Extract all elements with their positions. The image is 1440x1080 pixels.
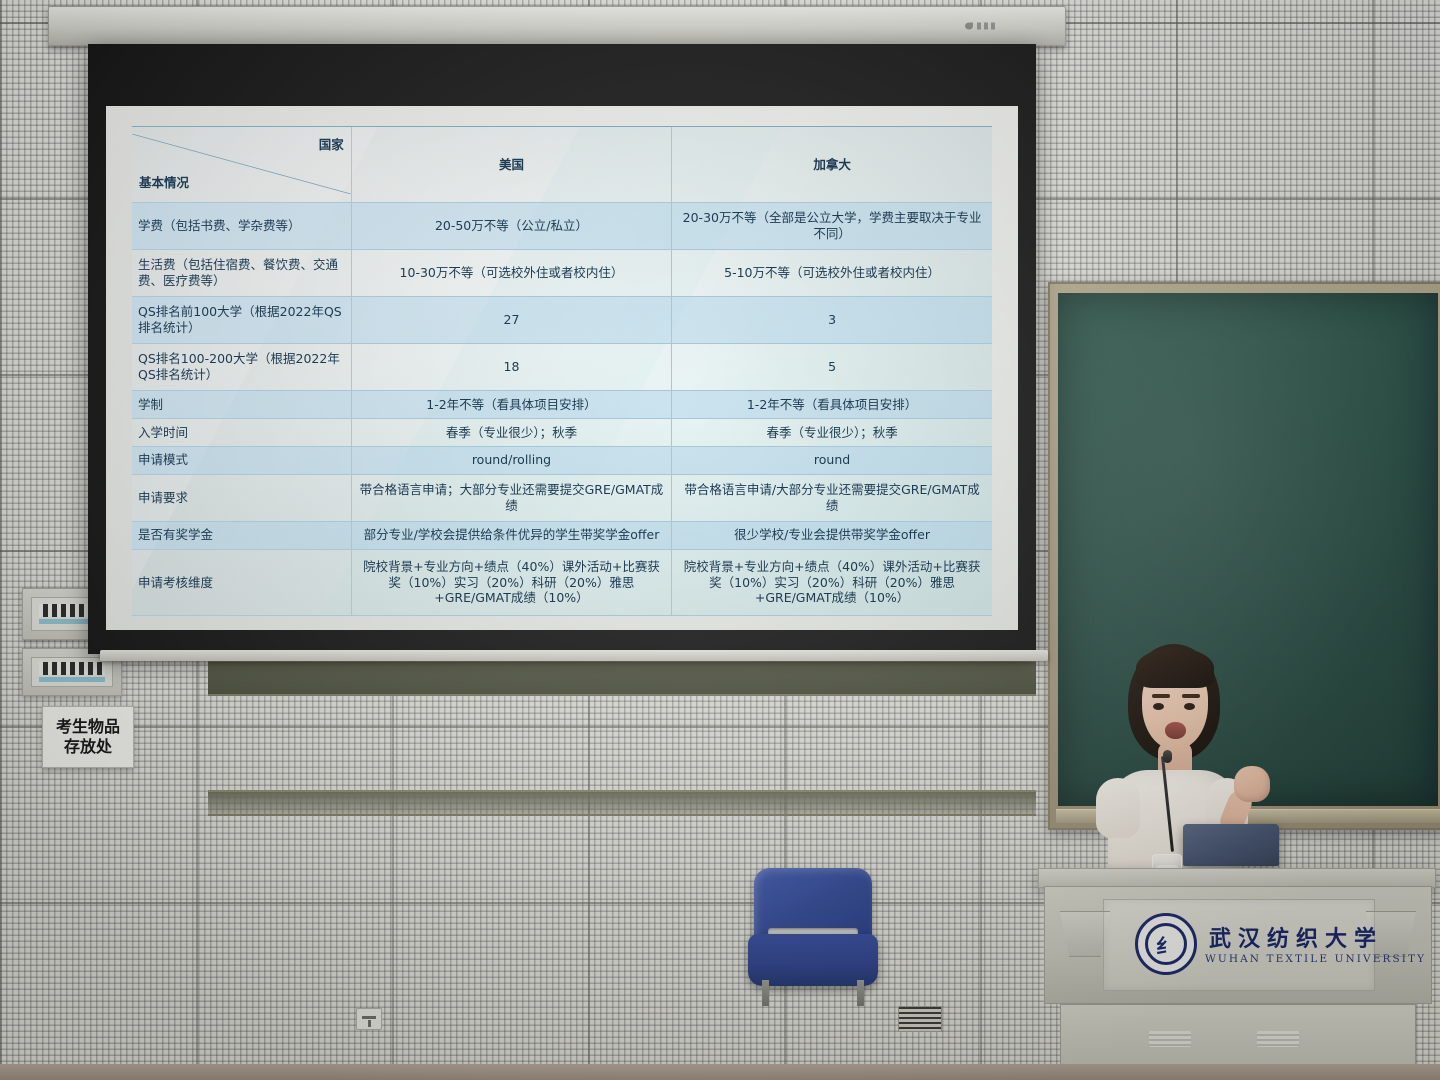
corner-header-cell: 国家 基本情况 <box>132 127 351 203</box>
blackboard <box>1048 282 1440 830</box>
speaker-mouth <box>1165 722 1186 739</box>
row-label: QS排名前100大学（根据2022年QS排名统计） <box>132 296 351 343</box>
table-row: 申请要求 带合格语言申请；大部分专业还需要提交GRE/GMAT成绩 带合格语言申… <box>132 474 992 521</box>
column-header-ca: 加拿大 <box>672 127 992 203</box>
table-row: 申请模式 round/rolling round <box>132 446 992 474</box>
row-value-us: 10-30万不等（可选校外住或者校内住） <box>351 249 671 296</box>
sign-line-1: 考生物品 <box>56 717 120 737</box>
row-value-ca: 带合格语言申请/大部分专业还需要提交GRE/GMAT成绩 <box>672 474 992 521</box>
table-row: 是否有奖学金 部分专业/学校会提供给条件优异的学生带奖学金offer 很少学校/… <box>132 521 992 549</box>
projection-screen-border: 国家 基本情况 美国 加拿大 学费（包括书费、学杂费等） 20-50万不等（公立… <box>88 44 1036 654</box>
emblem-inner-ring: 纟 <box>1145 923 1187 965</box>
row-label: 学制 <box>132 390 351 418</box>
lecture-hall-scene: 考生物品 存放处 <box>0 0 1440 1080</box>
speaker-brow-left <box>1152 694 1170 698</box>
table-row: 入学时间 春季（专业很少）；秋季 春季（专业很少）；秋季 <box>132 418 992 446</box>
row-label: 学费（包括书费、学杂费等） <box>132 202 351 249</box>
outlet-slot-v <box>368 1020 371 1027</box>
row-label: 生活费（包括住宿费、餐饮费、交通费、医疗费等） <box>132 249 351 296</box>
row-value-us: 院校背景+专业方向+绩点（40%）课外活动+比赛获奖（10%）实习（20%）科研… <box>351 549 671 615</box>
floor-baseboard <box>0 1064 1440 1080</box>
outlet-slot-h <box>362 1016 376 1019</box>
university-name-en: WUHAN TEXTILE UNIVERSITY <box>1205 953 1426 965</box>
blackboard-strip-upper <box>208 660 1036 696</box>
chair-leg-right <box>857 980 864 1006</box>
storage-area-sign: 考生物品 存放处 <box>42 706 134 768</box>
row-label: 申请要求 <box>132 474 351 521</box>
table-row: 学制 1-2年不等（看具体项目安排） 1-2年不等（看具体项目安排） <box>132 390 992 418</box>
row-label: QS排名100-200大学（根据2022年QS排名统计） <box>132 343 351 390</box>
projector-brand-logo-icon <box>965 23 995 30</box>
brand-dot-icon <box>965 23 973 30</box>
corner-label-country: 国家 <box>319 137 344 153</box>
row-label: 是否有奖学金 <box>132 521 351 549</box>
projection-screen-bottom-bar[interactable] <box>100 650 1048 661</box>
podium-desktop <box>1038 868 1436 888</box>
chair-leg-left <box>762 980 769 1006</box>
row-value-us: 20-50万不等（公立/私立） <box>351 202 671 249</box>
microphone-head-icon[interactable] <box>1163 750 1172 763</box>
university-name-cn: 武汉纺织大学 <box>1209 921 1383 953</box>
blackboard-surface <box>1058 293 1438 806</box>
row-value-ca: round <box>672 446 992 474</box>
row-value-us: 带合格语言申请；大部分专业还需要提交GRE/GMAT成绩 <box>351 474 671 521</box>
podium-front-face: 纟 武汉纺织大学 WUHAN TEXTILE UNIVERSITY <box>1044 886 1432 1004</box>
podium-vent-left-icon <box>1149 1031 1191 1047</box>
breaker-switch-row-bottom <box>39 662 105 675</box>
row-value-ca: 院校背景+专业方向+绩点（40%）课外活动+比赛获奖（10%）实习（20%）科研… <box>672 549 992 615</box>
breaker-label-strip-bottom <box>39 677 105 682</box>
row-label: 入学时间 <box>132 418 351 446</box>
row-value-ca: 20-30万不等（全部是公立大学，学费主要取决于专业不同） <box>672 202 992 249</box>
row-value-ca: 春季（专业很少）；秋季 <box>672 418 992 446</box>
wall-outlet-left[interactable] <box>356 1008 382 1030</box>
table-row: QS排名100-200大学（根据2022年QS排名统计） 18 5 <box>132 343 992 390</box>
projection-screen-surface: 国家 基本情况 美国 加拿大 学费（包括书费、学杂费等） 20-50万不等（公立… <box>106 106 1018 630</box>
sign-line-2: 存放处 <box>64 737 112 757</box>
row-value-ca: 5-10万不等（可选校外住或者校内住） <box>672 249 992 296</box>
table-header-row: 国家 基本情况 美国 加拿大 <box>132 127 992 203</box>
row-label: 申请模式 <box>132 446 351 474</box>
speaker-hand-gesture <box>1234 766 1270 802</box>
row-value-ca: 1-2年不等（看具体项目安排） <box>672 390 992 418</box>
row-value-us: 18 <box>351 343 671 390</box>
wall-vent-grate <box>898 1006 942 1032</box>
table-row: QS排名前100大学（根据2022年QS排名统计） 27 3 <box>132 296 992 343</box>
breaker-inner-bottom <box>31 657 113 687</box>
row-value-us: round/rolling <box>351 446 671 474</box>
row-value-us: 27 <box>351 296 671 343</box>
brand-bars-icon <box>977 23 995 30</box>
row-value-us: 部分专业/学校会提供给条件优异的学生带奖学金offer <box>351 521 671 549</box>
speaker-brow-right <box>1182 694 1200 698</box>
presentation-slide: 国家 基本情况 美国 加拿大 学费（包括书费、学杂费等） 20-50万不等（公立… <box>132 126 992 616</box>
table-row: 申请考核维度 院校背景+专业方向+绩点（40%）课外活动+比赛获奖（10%）实习… <box>132 549 992 615</box>
presenter-laptop[interactable] <box>1183 824 1279 866</box>
diagonal-header: 国家 基本情况 <box>132 134 351 194</box>
row-value-us: 春季（专业很少）；秋季 <box>351 418 671 446</box>
podium-vent-right-icon <box>1257 1031 1299 1047</box>
speaker-eye-left <box>1153 703 1164 710</box>
table-row: 学费（包括书费、学杂费等） 20-50万不等（公立/私立） 20-30万不等（全… <box>132 202 992 249</box>
table-row: 生活费（包括住宿费、餐饮费、交通费、医疗费等） 10-30万不等（可选校外住或者… <box>132 249 992 296</box>
projector-screen-housing[interactable] <box>48 6 1066 46</box>
row-value-ca: 3 <box>672 296 992 343</box>
blackboard-strip-lower <box>208 790 1036 816</box>
column-header-us: 美国 <box>351 127 671 203</box>
chair-seat <box>748 934 878 986</box>
speaker-eye-right <box>1184 703 1195 710</box>
row-value-ca: 很少学校/专业会提供带奖学金offer <box>672 521 992 549</box>
comparison-table-body: 国家 基本情况 美国 加拿大 学费（包括书费、学杂费等） 20-50万不等（公立… <box>132 127 992 616</box>
comparison-table: 国家 基本情况 美国 加拿大 学费（包括书费、学杂费等） 20-50万不等（公立… <box>132 126 992 616</box>
auditorium-chair[interactable] <box>748 868 878 1008</box>
row-label: 申请考核维度 <box>132 549 351 615</box>
university-emblem-icon: 纟 <box>1135 913 1197 975</box>
row-value-ca: 5 <box>672 343 992 390</box>
speaker-sleeve-left <box>1096 778 1140 838</box>
row-value-us: 1-2年不等（看具体项目安排） <box>351 390 671 418</box>
corner-label-basics: 基本情况 <box>139 175 189 191</box>
speaker-hair-front <box>1136 648 1214 688</box>
